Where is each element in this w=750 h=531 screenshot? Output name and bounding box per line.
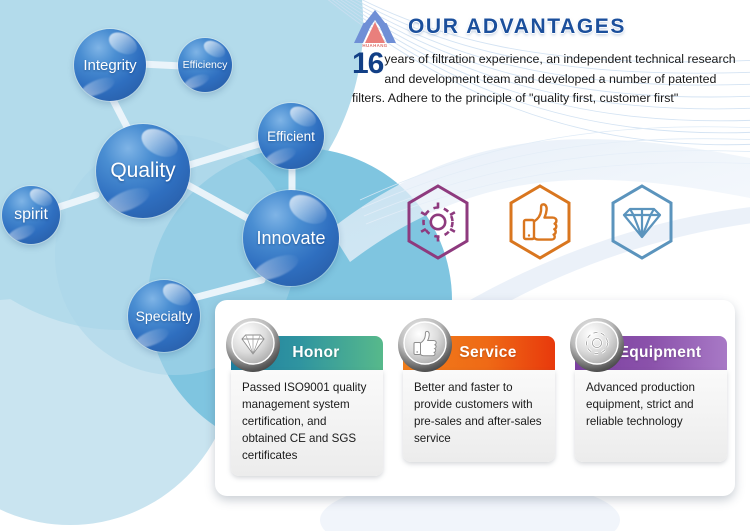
bubble-label: spirit bbox=[10, 206, 52, 224]
header: HUAHANG OUR ADVANTAGES 16years of filtra… bbox=[352, 6, 744, 48]
card-title: Service bbox=[459, 344, 516, 362]
intro-paragraph: 16years of filtration experience, an ind… bbox=[352, 50, 744, 109]
advantages-banner: Integrity Efficiency Efficient Quality s… bbox=[0, 0, 750, 531]
hex-thumbs-up-icon[interactable] bbox=[507, 184, 573, 260]
hex-diamond-icon[interactable] bbox=[609, 184, 675, 260]
bubble-label: Specialty bbox=[132, 308, 197, 324]
card-knob-gear[interactable] bbox=[567, 314, 627, 374]
bubble-quality[interactable]: Quality bbox=[96, 124, 190, 218]
intro-text: years of filtration experience, an indep… bbox=[352, 52, 736, 105]
card-body: Better and faster to provide customers w… bbox=[403, 370, 555, 462]
hex-icon-row bbox=[405, 184, 675, 264]
card-title: Honor bbox=[292, 344, 339, 362]
card-body: Passed ISO9001 quality management system… bbox=[231, 370, 383, 476]
card-body: Advanced production equipment, strict an… bbox=[575, 370, 727, 462]
bubble-spirit[interactable]: spirit bbox=[2, 186, 60, 244]
card-knob-thumbs-up[interactable] bbox=[395, 314, 455, 374]
bubble-label: Efficiency bbox=[179, 59, 232, 71]
bubble-label: Efficient bbox=[263, 129, 319, 144]
bubble-efficiency[interactable]: Efficiency bbox=[178, 38, 232, 92]
bubble-efficient[interactable]: Efficient bbox=[258, 103, 324, 169]
card-service[interactable]: Service Better and faster to provide cus… bbox=[403, 336, 555, 462]
bubble-label: Innovate bbox=[252, 228, 329, 249]
bubble-integrity[interactable]: Integrity bbox=[74, 29, 146, 101]
bubble-label: Integrity bbox=[79, 57, 140, 74]
bubble-innovate[interactable]: Innovate bbox=[243, 190, 339, 286]
title-row: HUAHANG OUR ADVANTAGES bbox=[352, 6, 744, 48]
bubble-label: Quality bbox=[106, 159, 179, 183]
years-number: 16 bbox=[352, 52, 383, 76]
advantage-cards-panel: Honor Passed ISO9001 quality management … bbox=[215, 300, 735, 496]
page-title: OUR ADVANTAGES bbox=[408, 15, 626, 39]
bubble-specialty[interactable]: Specialty bbox=[128, 280, 200, 352]
card-equipment[interactable]: Equipment Advanced production equipment,… bbox=[575, 336, 727, 462]
hex-gear-icon[interactable] bbox=[405, 184, 471, 260]
huahang-logo-icon: HUAHANG bbox=[352, 7, 398, 47]
card-title: Equipment bbox=[619, 344, 702, 362]
card-honor[interactable]: Honor Passed ISO9001 quality management … bbox=[231, 336, 383, 476]
card-knob-diamond[interactable] bbox=[223, 314, 283, 374]
